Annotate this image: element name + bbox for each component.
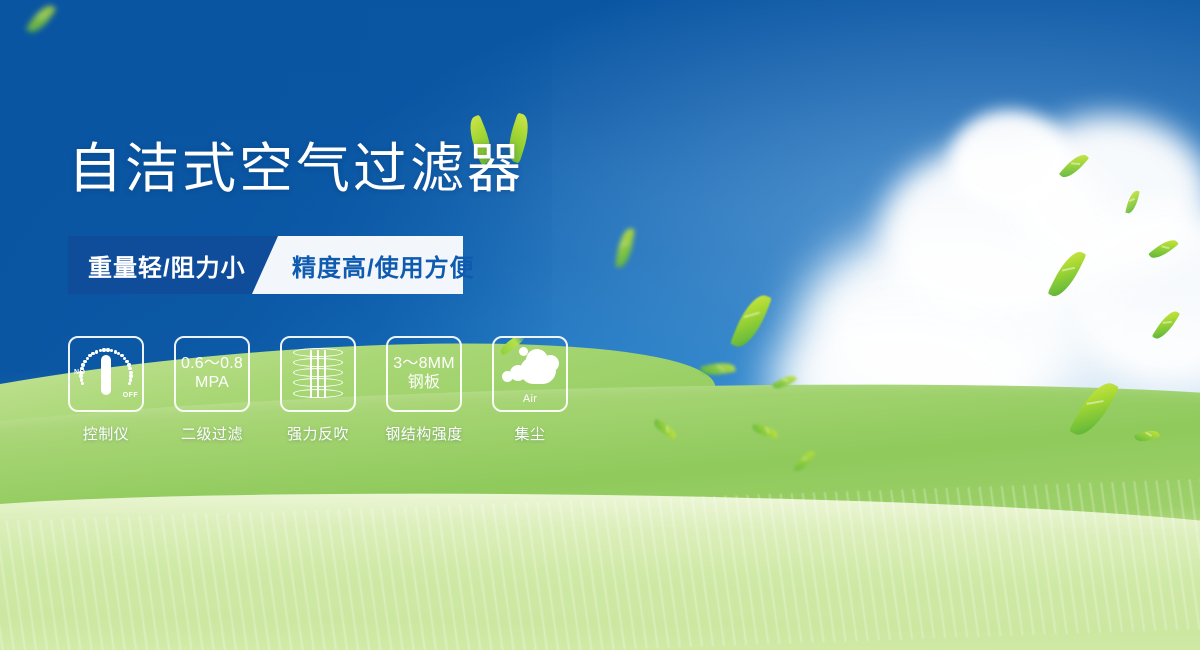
pressure-unit: MPA: [181, 374, 243, 393]
hero-banner: 自洁式空气过滤器 重量轻/阻力小 精度高/使用方便 NO OFF 控制仪 0.6…: [0, 0, 1200, 650]
subtitle-right-text: 精度高/使用方便: [292, 236, 475, 294]
air-cloud-icon: [500, 345, 560, 395]
feature-label: 强力反吹: [287, 423, 349, 444]
gauge-tick: [79, 371, 82, 374]
pressure-text-icon: 0.6～0.8 MPA: [181, 355, 243, 393]
feature-label: 集尘: [514, 423, 545, 444]
feature-item-blowback[interactable]: 强力反吹: [280, 336, 356, 444]
page-title: 自洁式空气过滤器: [68, 142, 524, 196]
gauge-tick: [83, 360, 86, 363]
feature-box: [280, 336, 356, 412]
gauge-tick: [79, 374, 82, 377]
gauge-tick: [86, 357, 89, 360]
feature-box: 3～8MM 钢板: [386, 336, 462, 412]
filter-stack-icon: [293, 348, 343, 400]
subtitle-bar: 重量轻/阻力小 精度高/使用方便: [68, 236, 463, 294]
gauge-needle: [101, 355, 111, 395]
gauge-tick: [110, 349, 113, 352]
steel-material: 钢板: [393, 374, 454, 393]
feature-box: NO OFF: [68, 336, 144, 412]
gauge-tick: [95, 350, 98, 353]
feature-label: 控制仪: [83, 423, 130, 444]
gauge-tick: [80, 378, 83, 381]
feature-box: Air: [492, 336, 568, 412]
gauge-tick: [128, 382, 131, 385]
steel-text-icon: 3～8MM 钢板: [393, 355, 454, 393]
subtitle-left-text: 重量轻/阻力小: [88, 236, 246, 294]
gauge-off-label: OFF: [123, 392, 138, 399]
feature-item-dust-collection[interactable]: Air 集尘: [492, 336, 568, 444]
gauge-tick: [128, 367, 131, 370]
gauge-tick: [81, 363, 84, 366]
feature-box: 0.6～0.8 MPA: [174, 336, 250, 412]
feature-list: NO OFF 控制仪 0.6～0.8 MPA 二级过滤: [68, 336, 568, 444]
feature-label: 二级过滤: [181, 423, 243, 444]
pressure-value: 0.6～0.8: [181, 355, 243, 372]
feature-label: 钢结构强度: [385, 423, 463, 444]
gauge-tick: [80, 367, 83, 370]
steel-thickness: 3～8MM: [393, 355, 454, 372]
gauge-tick: [81, 382, 84, 385]
feature-item-steel[interactable]: 3～8MM 钢板 钢结构强度: [386, 336, 462, 444]
feature-item-pressure[interactable]: 0.6～0.8 MPA 二级过滤: [174, 336, 250, 444]
gauge-icon: NO OFF: [75, 345, 137, 403]
feature-item-control-gauge[interactable]: NO OFF 控制仪: [68, 336, 144, 444]
